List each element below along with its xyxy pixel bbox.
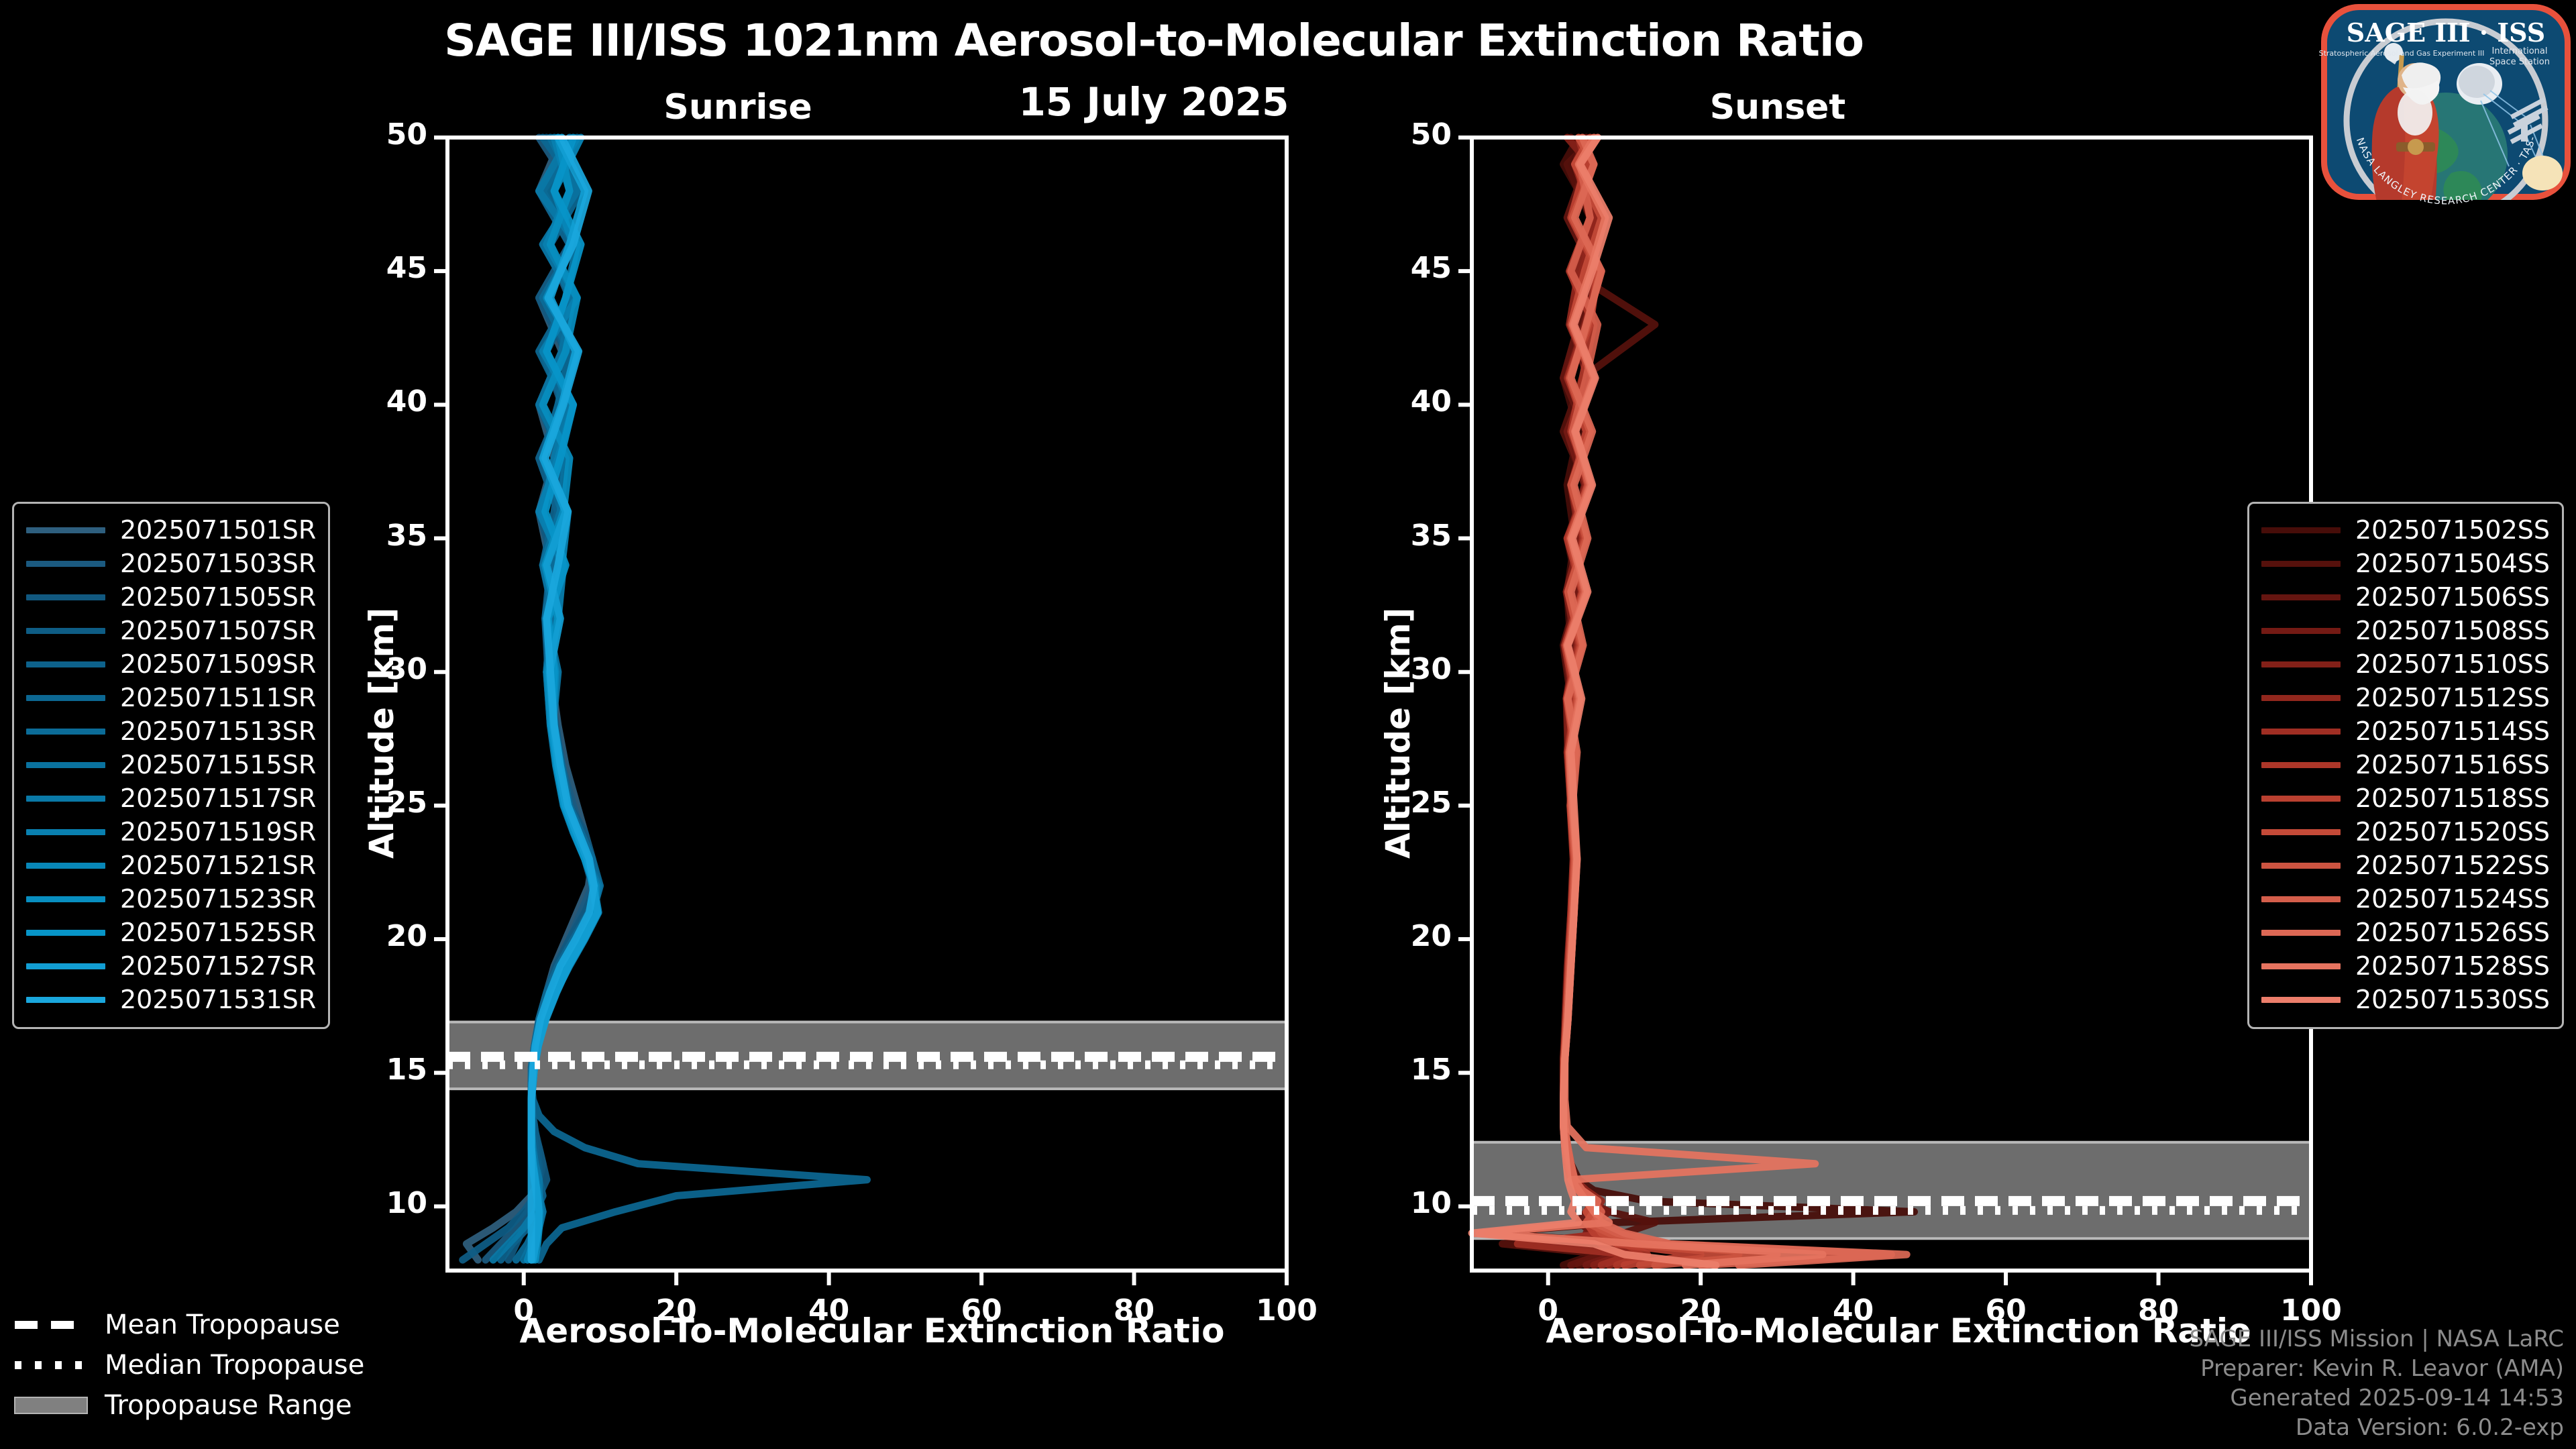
- legend-color-swatch-icon: [2261, 594, 2341, 600]
- legend-color-swatch-icon: [2261, 896, 2341, 902]
- sunrise-ytick-label: 35: [313, 519, 427, 553]
- dotted-line-swatch-icon: [13, 1355, 89, 1375]
- legend-color-swatch-icon: [2261, 695, 2341, 701]
- legend-item[interactable]: 2025071503SR: [26, 547, 316, 580]
- sunset-xtick-label: 20: [1627, 1293, 1774, 1328]
- dashed-line-swatch-icon: [13, 1315, 89, 1335]
- legend-item[interactable]: 2025071523SR: [26, 882, 316, 916]
- legend-item[interactable]: 2025071524SS: [2261, 882, 2550, 916]
- legend-item-label: 2025071525SR: [120, 918, 316, 947]
- sunset-ytick-label: 45: [1338, 251, 1452, 285]
- footer-generated-line: Generated 2025-09-14 14:53: [2189, 1383, 2564, 1413]
- logo-subtitle-right-2: Space Station: [2489, 57, 2550, 67]
- sunrise-panel: [434, 138, 1287, 1285]
- legend-item-label: 2025071526SS: [2355, 918, 2550, 947]
- legend-item-mean-tropopause: Mean Tropopause: [13, 1305, 364, 1345]
- legend-color-swatch-icon: [2261, 729, 2341, 735]
- legend-color-swatch-icon: [26, 829, 105, 835]
- legend-color-swatch-icon: [2261, 661, 2341, 667]
- sunset-ytick-label: 50: [1338, 117, 1452, 152]
- legend-item-median-tropopause: Median Tropopause: [13, 1345, 364, 1385]
- legend-item-label: 2025071503SR: [120, 549, 316, 578]
- sunset-events-legend[interactable]: 2025071502SS2025071504SS2025071506SS2025…: [2247, 502, 2564, 1029]
- sunset-ytick-label: 15: [1338, 1053, 1452, 1087]
- left-yaxis-title: Altitude [km]: [362, 607, 401, 859]
- footer-mission-line: SAGE III/ISS Mission | NASA LaRC: [2189, 1324, 2564, 1354]
- legend-color-swatch-icon: [2261, 829, 2341, 835]
- legend-item[interactable]: 2025071528SS: [2261, 949, 2550, 983]
- legend-item[interactable]: 2025071507SR: [26, 614, 316, 647]
- legend-item[interactable]: 2025071509SR: [26, 647, 316, 681]
- sunset-xtick-label: 0: [1474, 1293, 1622, 1328]
- sunrise-xtick-label: 20: [602, 1293, 750, 1328]
- legend-color-swatch-icon: [26, 963, 105, 969]
- legend-color-swatch-icon: [2261, 762, 2341, 768]
- legend-item[interactable]: 2025071525SR: [26, 916, 316, 949]
- legend-item[interactable]: 2025071506SS: [2261, 580, 2550, 614]
- logo-subtitle-right-1: International: [2492, 46, 2548, 56]
- footer-metadata: SAGE III/ISS Mission | NASA LaRC Prepare…: [2189, 1324, 2564, 1442]
- legend-item-label: 2025071507SR: [120, 616, 316, 645]
- sunset-ytick-label: 35: [1338, 519, 1452, 553]
- legend-item-label: 2025071528SS: [2355, 951, 2550, 981]
- legend-item[interactable]: 2025071505SR: [26, 580, 316, 614]
- legend-item-label: 2025071509SR: [120, 649, 316, 679]
- legend-item-label: 2025071530SS: [2355, 985, 2550, 1014]
- sunrise-ytick-label: 10: [313, 1186, 427, 1220]
- legend-color-swatch-icon: [2261, 527, 2341, 533]
- legend-item-label: 2025071515SR: [120, 750, 316, 780]
- legend-item-label: 2025071506SS: [2355, 582, 2550, 612]
- sunset-xtick-label: 60: [1932, 1293, 2080, 1328]
- legend-color-swatch-icon: [26, 796, 105, 802]
- sunrise-xtick-label: 40: [755, 1293, 903, 1328]
- sunrise-events-legend[interactable]: 2025071501SR2025071503SR2025071505SR2025…: [12, 502, 330, 1029]
- legend-item-label: 2025071531SR: [120, 985, 316, 1014]
- legend-item-label: 2025071517SR: [120, 784, 316, 813]
- legend-item-label: 2025071516SS: [2355, 750, 2550, 780]
- sunrise-xtick-label: 60: [908, 1293, 1055, 1328]
- legend-item-label: 2025071505SR: [120, 582, 316, 612]
- sunrise-ytick-label: 15: [313, 1053, 427, 1087]
- legend-item-tropopause-range: Tropopause Range: [13, 1385, 364, 1426]
- legend-item[interactable]: 2025071511SR: [26, 681, 316, 714]
- sunset-ytick-label: 30: [1338, 652, 1452, 686]
- sunrise-ytick-label: 40: [313, 384, 427, 419]
- footer-data-version-line: Data Version: 6.0.2-exp: [2189, 1413, 2564, 1442]
- legend-color-swatch-icon: [26, 561, 105, 567]
- sunrise-ytick-label: 50: [313, 117, 427, 152]
- sunset-xtick-label: 100: [2237, 1293, 2385, 1328]
- legend-label-tropopause-range: Tropopause Range: [105, 1390, 352, 1421]
- legend-item-label: 2025071524SS: [2355, 884, 2550, 914]
- legend-color-swatch-icon: [26, 628, 105, 634]
- legend-item-label: 2025071522SS: [2355, 851, 2550, 880]
- legend-color-swatch-icon: [26, 527, 105, 533]
- logo-title: SAGE III · ISS: [2347, 17, 2545, 48]
- footer-preparer-line: Preparer: Kevin R. Leavor (AMA): [2189, 1354, 2564, 1383]
- legend-item-label: 2025071523SR: [120, 884, 316, 914]
- legend-item[interactable]: 2025071530SS: [2261, 983, 2550, 1016]
- legend-color-swatch-icon: [2261, 561, 2341, 567]
- legend-item-label: 2025071514SS: [2355, 716, 2550, 746]
- legend-color-swatch-icon: [26, 762, 105, 768]
- gray-band-swatch-icon: [13, 1395, 89, 1415]
- sunrise-ytick-label: 45: [313, 251, 427, 285]
- legend-color-swatch-icon: [2261, 963, 2341, 969]
- legend-item[interactable]: 2025071512SS: [2261, 681, 2550, 714]
- sunset-panel: [1458, 138, 2311, 1285]
- legend-item[interactable]: 2025071519SR: [26, 815, 316, 849]
- legend-item-label: 2025071519SR: [120, 817, 316, 847]
- legend-item[interactable]: 2025071518SS: [2261, 782, 2550, 815]
- legend-item[interactable]: 2025071521SR: [26, 849, 316, 882]
- legend-item[interactable]: 2025071522SS: [2261, 849, 2550, 882]
- legend-item[interactable]: 2025071527SR: [26, 949, 316, 983]
- legend-item-label: 2025071521SR: [120, 851, 316, 880]
- legend-item[interactable]: 2025071501SR: [26, 513, 316, 547]
- legend-color-swatch-icon: [2261, 997, 2341, 1003]
- legend-item-label: 2025071520SS: [2355, 817, 2550, 847]
- legend-color-swatch-icon: [26, 863, 105, 869]
- tropopause-legend: Mean Tropopause Median Tropopause Tropop…: [13, 1305, 364, 1426]
- legend-color-swatch-icon: [26, 729, 105, 735]
- legend-color-swatch-icon: [26, 997, 105, 1003]
- legend-item[interactable]: 2025071514SS: [2261, 714, 2550, 748]
- legend-item-label: 2025071504SS: [2355, 549, 2550, 578]
- sunset-ytick-label: 10: [1338, 1186, 1452, 1220]
- legend-item[interactable]: 2025071531SR: [26, 983, 316, 1016]
- sunrise-xtick-label: 0: [450, 1293, 598, 1328]
- sunrise-ytick-label: 25: [313, 786, 427, 820]
- legend-item[interactable]: 2025071508SS: [2261, 614, 2550, 647]
- logo-subtitle-left: Stratospheric Aerosol and Gas Experiment…: [2319, 49, 2485, 58]
- sunset-ytick-label: 25: [1338, 786, 1452, 820]
- legend-label-mean-tropopause: Mean Tropopause: [105, 1309, 340, 1340]
- legend-color-swatch-icon: [26, 594, 105, 600]
- sunset-xtick-label: 40: [1780, 1293, 1927, 1328]
- sunset-plot-background: [1472, 138, 2311, 1271]
- legend-item-label: 2025071502SS: [2355, 515, 2550, 545]
- legend-item-label: 2025071518SS: [2355, 784, 2550, 813]
- legend-item[interactable]: 2025071504SS: [2261, 547, 2550, 580]
- figure-root: SAGE III/ISS 1021nm Aerosol-to-Molecular…: [0, 0, 2576, 1449]
- legend-color-swatch-icon: [2261, 796, 2341, 802]
- sunrise-xtick-label: 80: [1061, 1293, 1208, 1328]
- legend-item-label: 2025071508SS: [2355, 616, 2550, 645]
- legend-color-swatch-icon: [26, 896, 105, 902]
- legend-item[interactable]: 2025071516SS: [2261, 748, 2550, 782]
- legend-color-swatch-icon: [26, 661, 105, 667]
- legend-item-label: 2025071510SS: [2355, 649, 2550, 679]
- legend-item[interactable]: 2025071517SR: [26, 782, 316, 815]
- legend-color-swatch-icon: [2261, 863, 2341, 869]
- sunset-ytick-label: 20: [1338, 919, 1452, 953]
- legend-item-label: 2025071511SR: [120, 683, 316, 712]
- legend-color-swatch-icon: [2261, 930, 2341, 936]
- legend-item-label: 2025071501SR: [120, 515, 316, 545]
- sunset-xtick-label: 80: [2085, 1293, 2233, 1328]
- legend-item-label: 2025071513SR: [120, 716, 316, 746]
- legend-item[interactable]: 2025071502SS: [2261, 513, 2550, 547]
- sunrise-ytick-label: 20: [313, 919, 427, 953]
- legend-color-swatch-icon: [2261, 628, 2341, 634]
- legend-color-swatch-icon: [26, 930, 105, 936]
- legend-item[interactable]: 2025071520SS: [2261, 815, 2550, 849]
- sage-iii-iss-logo: SAGE III · ISS Stratospheric Aerosol and…: [2308, 0, 2576, 205]
- legend-item[interactable]: 2025071513SR: [26, 714, 316, 748]
- legend-item-label: 2025071512SS: [2355, 683, 2550, 712]
- legend-label-median-tropopause: Median Tropopause: [105, 1350, 364, 1381]
- legend-color-swatch-icon: [26, 695, 105, 701]
- sunrise-xtick-label: 100: [1213, 1293, 1360, 1328]
- legend-item-label: 2025071527SR: [120, 951, 316, 981]
- legend-item[interactable]: 2025071510SS: [2261, 647, 2550, 681]
- sunset-ytick-label: 40: [1338, 384, 1452, 419]
- sunrise-ytick-label: 30: [313, 652, 427, 686]
- right-yaxis-title: Altitude [km]: [1379, 607, 1417, 859]
- legend-item[interactable]: 2025071515SR: [26, 748, 316, 782]
- legend-item[interactable]: 2025071526SS: [2261, 916, 2550, 949]
